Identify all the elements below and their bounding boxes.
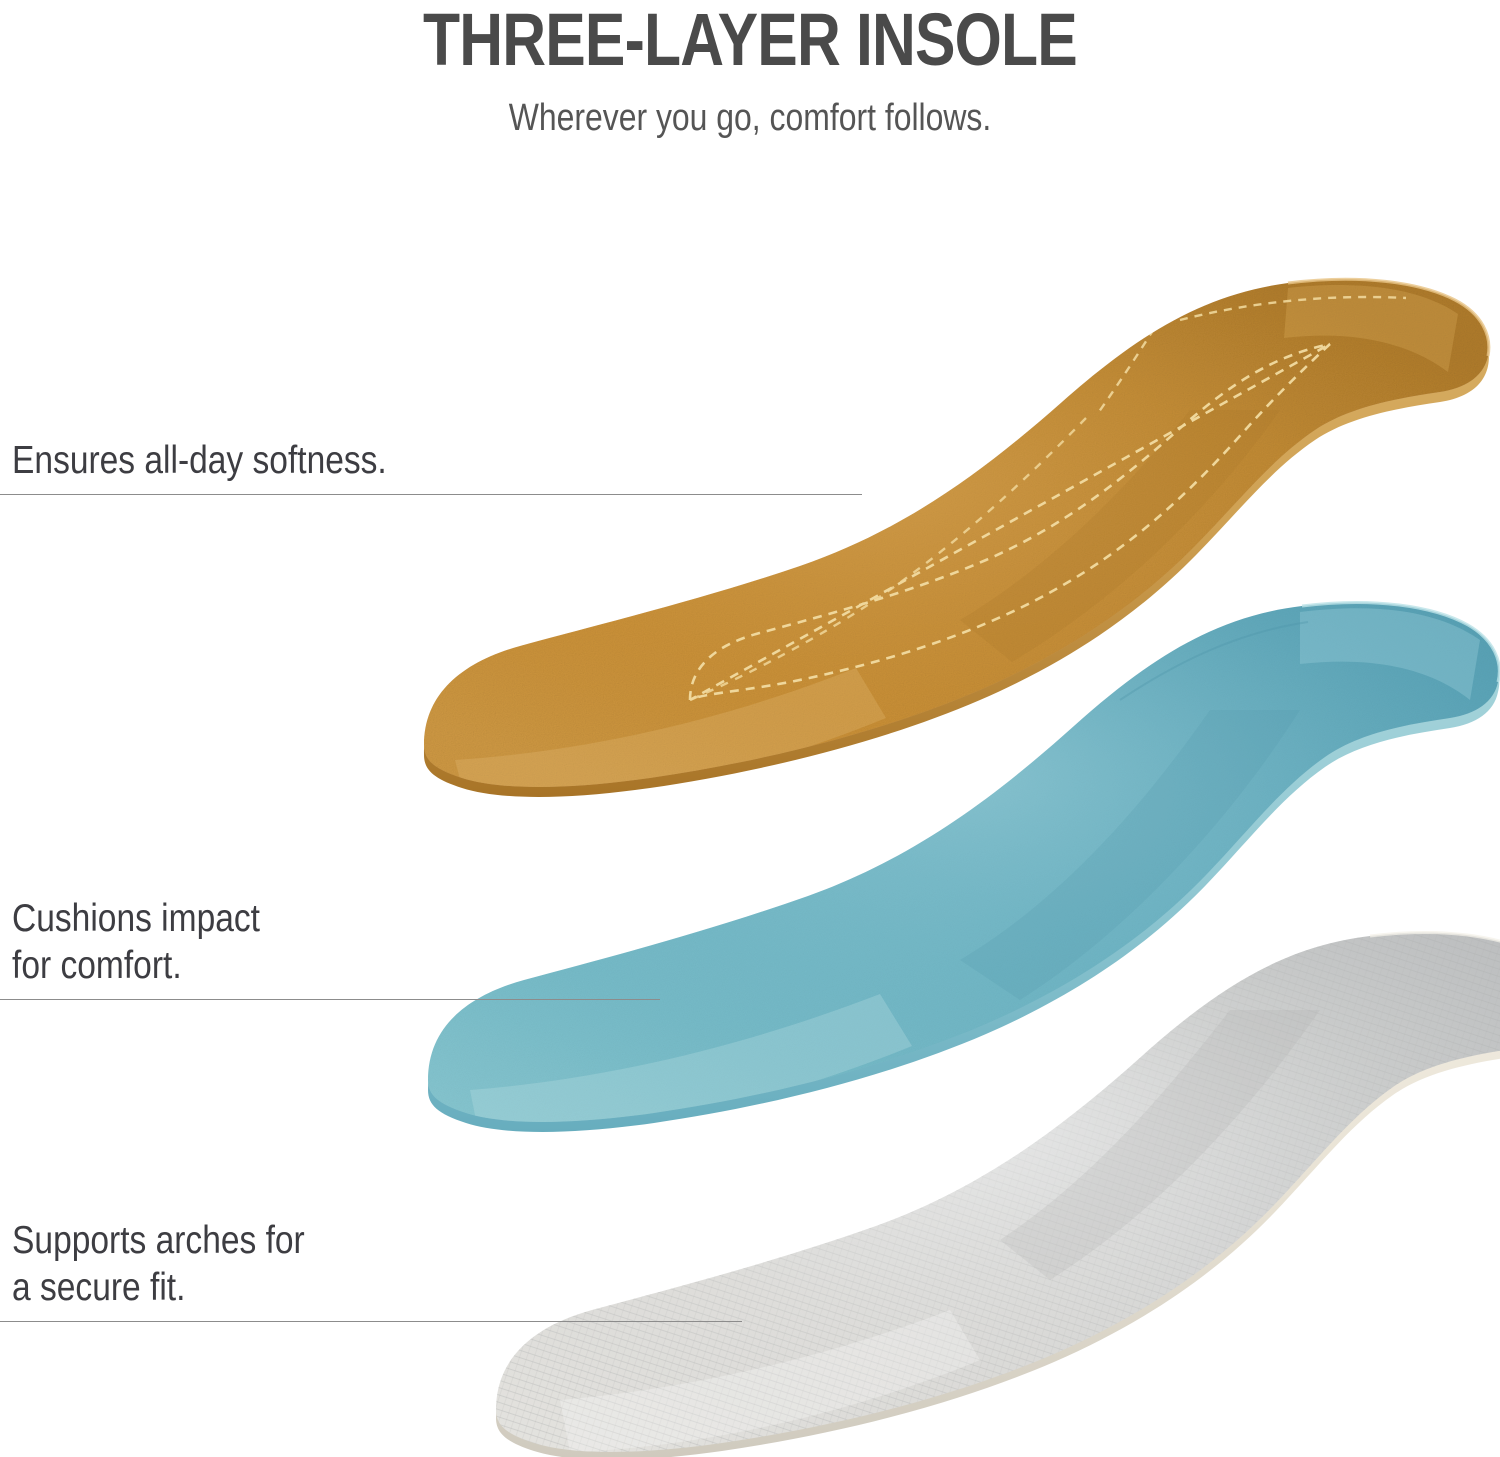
callout-support-label: Supports arches for a secure fit.	[0, 1217, 638, 1311]
leader-line-support	[0, 1321, 742, 1322]
leader-line-softness	[0, 494, 862, 495]
callout-support: Supports arches for a secure fit.	[0, 1217, 742, 1322]
callout-cushion-label: Cushions impact for comfort.	[0, 895, 568, 989]
header: THREE-LAYER INSOLE Wherever you go, comf…	[0, 0, 1500, 140]
callout-cushion: Cushions impact for comfort.	[0, 895, 660, 1000]
page-subtitle: Wherever you go, comfort follows.	[120, 78, 1380, 140]
top-suede-layer	[400, 250, 1500, 820]
leader-line-cushion	[0, 999, 660, 1000]
callout-softness: Ensures all-day softness.	[0, 437, 862, 495]
callout-softness-label: Ensures all-day softness.	[0, 437, 741, 484]
middle-foam-layer	[400, 570, 1500, 1150]
page-title: THREE-LAYER INSOLE	[135, 0, 1365, 78]
